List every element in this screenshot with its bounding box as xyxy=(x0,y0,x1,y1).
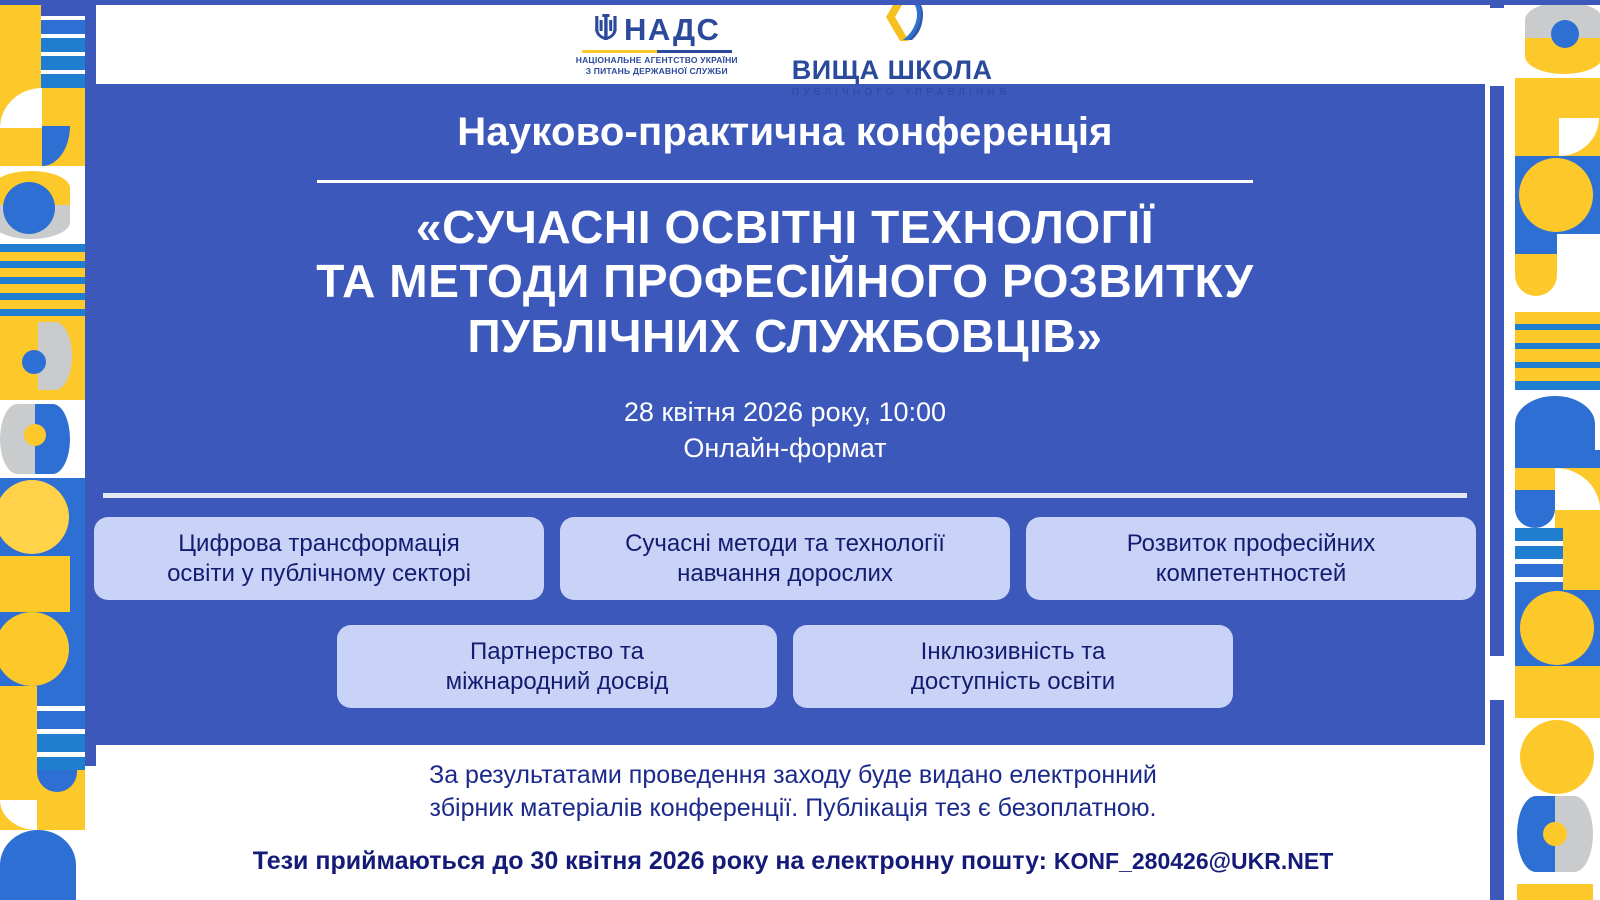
section-divider xyxy=(103,493,1467,498)
nads-subtitle-line-2: З ПИТАНЬ ДЕРЖАВНОЇ СЛУЖБИ xyxy=(586,66,728,77)
chevron-bracket-icon xyxy=(879,0,923,48)
publication-note-line-2: збірник матеріалів конференції. Публікац… xyxy=(430,792,1157,825)
event-meta: 28 квітня 2026 року, 10:00 Онлайн-формат xyxy=(85,394,1485,467)
kicker-divider xyxy=(317,180,1253,183)
nads-logo: НАДС НАЦІОНАЛЬНЕ АГЕНТСТВО УКРАЇНИ З ПИТ… xyxy=(576,12,738,76)
event-date-time: 28 квітня 2026 року, 10:00 xyxy=(85,394,1485,430)
submission-deadline: Тези приймаються до 30 квітня 2026 року … xyxy=(253,847,1334,876)
left-decorative-column xyxy=(0,0,96,900)
title-line-1: «СУЧАСНІ ОСВІТНІ ТЕХНОЛОГІЇ xyxy=(85,200,1485,254)
topic-chip[interactable]: Сучасні методи та технологіїнавчання дор… xyxy=(560,517,1010,600)
conference-kicker: Науково-практична конференція xyxy=(85,110,1485,155)
publication-note-line-1: За результатами проведення заходу буде в… xyxy=(429,759,1157,792)
conference-title: «СУЧАСНІ ОСВІТНІ ТЕХНОЛОГІЇ ТА МЕТОДИ ПР… xyxy=(85,200,1485,363)
topic-chip[interactable]: Партнерство таміжнародний досвід xyxy=(337,625,777,708)
title-line-2: ТА МЕТОДИ ПРОФЕСІЙНОГО РОЗВИТКУ xyxy=(85,254,1485,308)
vyshcha-shkola-name: ВИЩА ШКОЛА xyxy=(792,57,1011,84)
nads-acronym: НАДС xyxy=(624,14,720,45)
nads-subtitle-line-1: НАЦІОНАЛЬНЕ АГЕНТСТВО УКРАЇНИ xyxy=(576,55,738,66)
top-accent-rule xyxy=(0,0,1600,5)
logo-band: НАДС НАЦІОНАЛЬНЕ АГЕНТСТВО УКРАЇНИ З ПИТ… xyxy=(96,5,1490,84)
event-format: Онлайн-формат xyxy=(85,430,1485,466)
right-decorative-column xyxy=(1490,0,1600,900)
vyshcha-shkola-subtitle: ПУБЛІЧНОГО УПРАВЛІННЯ xyxy=(792,88,1011,98)
topic-chips-row-2: Партнерство таміжнародний досвід Інклюзи… xyxy=(85,625,1485,708)
topic-chips-row-1: Цифрова трансформаціяосвіти у публічному… xyxy=(85,517,1485,600)
submission-email[interactable]: konf_280426@ukr.net xyxy=(1054,848,1333,874)
ukraine-trident-icon xyxy=(593,12,619,47)
title-line-3: ПУБЛІЧНИХ СЛУЖБОВЦІВ» xyxy=(85,309,1485,363)
deadline-text: Тези приймаються до 30 квітня 2026 року … xyxy=(253,847,1054,875)
topic-chip[interactable]: Розвиток професійнихкомпетентностей xyxy=(1026,517,1476,600)
conference-poster: НАДС НАЦІОНАЛЬНЕ АГЕНТСТВО УКРАЇНИ З ПИТ… xyxy=(0,0,1600,900)
topic-chip[interactable]: Цифрова трансформаціяосвіти у публічному… xyxy=(94,517,544,600)
footer-block: За результатами проведення заходу буде в… xyxy=(96,745,1490,900)
nads-underline xyxy=(582,50,732,53)
hero-panel: Науково-практична конференція «СУЧАСНІ О… xyxy=(85,84,1485,745)
topic-chip[interactable]: Інклюзивність тадоступність освіти xyxy=(793,625,1233,708)
vyshcha-shkola-logo: ВИЩА ШКОЛА ПУБЛІЧНОГО УПРАВЛІННЯ xyxy=(792,0,1011,98)
